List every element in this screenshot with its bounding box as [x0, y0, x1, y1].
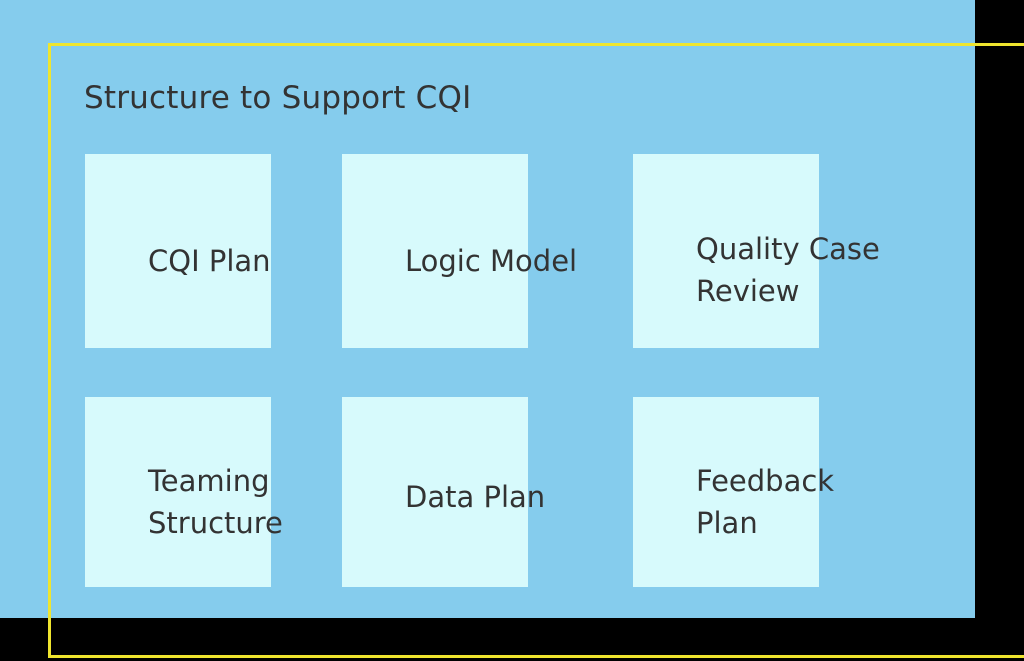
box-label-logic-model: Logic Model — [405, 240, 577, 282]
box-label-data-plan: Data Plan — [405, 476, 545, 518]
selection-frame-left-edge[interactable] — [48, 43, 51, 658]
page-title: Structure to Support CQI — [84, 80, 471, 116]
selection-frame-top-edge[interactable] — [48, 43, 1024, 46]
selection-frame-bottom-edge[interactable] — [48, 655, 1024, 658]
box-label-quality-case-review: Quality Case Review — [696, 228, 880, 312]
box-label-feedback-plan: Feedback Plan — [696, 460, 834, 544]
box-label-teaming-structure: Teaming Structure — [148, 460, 283, 544]
screenshot-canvas: Structure to Support CQI CQI Plan Logic … — [0, 0, 1024, 661]
box-label-cqi-plan: CQI Plan — [148, 240, 271, 282]
